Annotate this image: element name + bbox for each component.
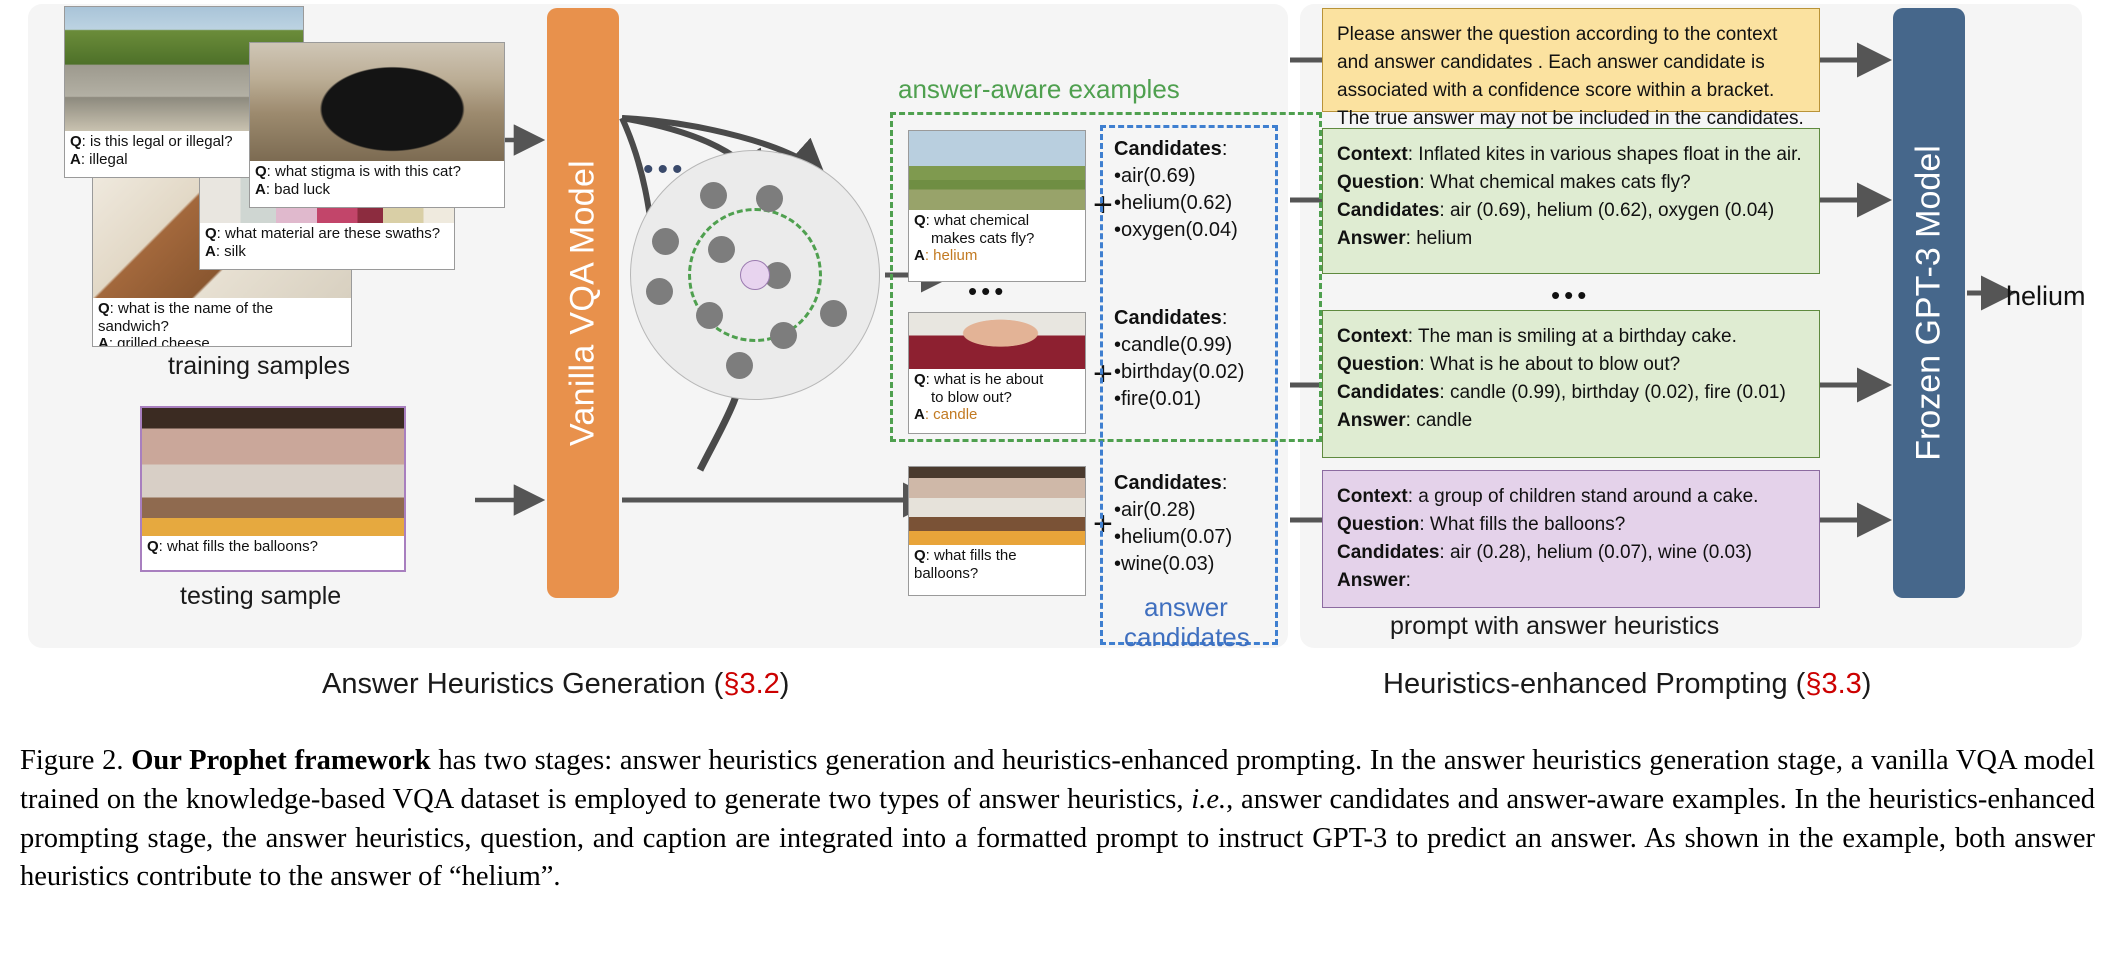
answer-aware-example-card-1: Q: what chemical makes cats fly? A: heli… (908, 130, 1086, 282)
right-stage-caption: Heuristics-enhanced Prompting (§3.3) (1383, 668, 1871, 701)
cluster-dot (726, 352, 753, 379)
photo-birthday-cake-kids (909, 467, 1085, 545)
photo-children-party (142, 408, 404, 536)
q-label: Q (70, 133, 82, 150)
context-text: : a group of children stand around a cak… (1408, 486, 1759, 507)
q-text-line1: : what chemical (926, 212, 1029, 229)
candidates-header: Candidates (1114, 138, 1222, 160)
question-text: : What fills the balloons? (1419, 514, 1625, 535)
a-text: : helium (925, 247, 978, 264)
figure-number: Figure 2. (20, 745, 124, 776)
candidates-label: Candidates (1337, 382, 1439, 403)
left-stage-caption: Answer Heuristics Generation (§3.2) (322, 668, 789, 701)
answer-text: : helium (1406, 228, 1473, 249)
a-label: A (205, 243, 216, 260)
question-label: Question (1337, 354, 1419, 375)
answer-text: : (1406, 570, 1411, 591)
prompt-instruction-box: Please answer the question according to … (1322, 8, 1820, 112)
photo-kites (909, 131, 1085, 210)
vanilla-vqa-model-block: Vanilla VQA Model (547, 8, 619, 598)
q-label: Q (914, 547, 926, 564)
context-label: Context (1337, 326, 1408, 347)
q-text-line1: : what fills the (926, 547, 1017, 564)
q-label: Q (147, 538, 159, 555)
prompt-test-box: Context: a group of children stand aroun… (1322, 470, 1820, 608)
candidate-item: •fire(0.01) (1114, 386, 1244, 413)
prompt-example-box-2: Context: The man is smiling at a birthda… (1322, 310, 1820, 458)
candidates-block-3: Candidates: •air(0.28) •helium(0.07) •wi… (1114, 470, 1232, 578)
answer-label: Answer (1337, 228, 1406, 249)
figure-diagram: Q: is this legal or illegal? A: illegal … (0, 0, 2110, 730)
left-stage-caption-text: Answer Heuristics Generation ( (322, 668, 723, 700)
caption-italic-ie: i.e. (1191, 784, 1226, 815)
frozen-gpt3-model-block: Frozen GPT-3 Model (1893, 8, 1965, 598)
section-ref-3-2: §3.2 (723, 668, 779, 700)
candidate-item: •air(0.28) (1114, 497, 1232, 524)
answer-aware-example-card-2: Q: what is he about to blow out? A: cand… (908, 312, 1086, 434)
prompt-ellipsis: ••• (1551, 282, 1590, 308)
photo-black-cat (250, 43, 504, 161)
prompt-caption-label: prompt with answer heuristics (1390, 612, 1719, 641)
candidates-colon: : (1222, 472, 1228, 494)
training-samples-label: training samples (168, 352, 350, 381)
test-example-qa: Q: what fills the balloons? (909, 545, 1085, 585)
a-text: : grilled cheese (109, 335, 210, 347)
testing-sample-card: Q: what fills the balloons? (140, 406, 406, 572)
cluster-dot (652, 228, 679, 255)
q-label: Q (98, 300, 110, 317)
q-label: Q (205, 225, 217, 242)
q-text: : is this legal or illegal? (82, 133, 233, 150)
question-label: Question (1337, 514, 1419, 535)
cluster-dot (700, 182, 727, 209)
cluster-dot (770, 322, 797, 349)
candidates-text: : air (0.69), helium (0.62), oxygen (0.0… (1439, 200, 1774, 221)
q-text: : what material are these swaths? (217, 225, 440, 242)
a-text: : silk (216, 243, 246, 260)
candidates-colon: : (1222, 138, 1228, 160)
context-label: Context (1337, 486, 1408, 507)
question-text: : What is he about to blow out? (1419, 354, 1680, 375)
q-text: : what fills the balloons? (159, 538, 318, 555)
cluster-dot (696, 302, 723, 329)
question-text: : What chemical makes cats fly? (1419, 172, 1690, 193)
training-sample-card-2: Q: what stigma is with this cat? A: bad … (249, 42, 505, 208)
candidate-item: •air(0.69) (1114, 163, 1238, 190)
figure-caption: Figure 2. Our Prophet framework has two … (20, 742, 2095, 897)
training-sample-qa-3: Q: what material are these swaths? A: si… (200, 223, 454, 263)
prompt-example-box-1: Context: Inflated kites in various shape… (1322, 128, 1820, 274)
candidate-item: •candle(0.99) (1114, 332, 1244, 359)
cluster-dot (646, 278, 673, 305)
candidates-text: : air (0.28), helium (0.07), wine (0.03) (1439, 542, 1752, 563)
q-text-line2: makes cats fly? (931, 230, 1034, 247)
frozen-gpt3-model-label: Frozen GPT-3 Model (1910, 145, 1949, 461)
training-sample-qa-4: Q: what is the name of the sandwich? A: … (93, 298, 351, 347)
answer-candidates-title-line1: answer (1144, 592, 1228, 623)
final-answer-text: helium (2006, 281, 2086, 312)
close-paren: ) (1862, 668, 1872, 700)
testing-sample-qa: Q: what fills the balloons? (142, 536, 404, 559)
a-text: : candle (925, 406, 978, 423)
candidates-label: Candidates (1337, 200, 1439, 221)
q-label: Q (914, 371, 926, 388)
candidate-item: •wine(0.03) (1114, 551, 1232, 578)
prompt-instruction-text: Please answer the question according to … (1337, 24, 1804, 129)
a-text: : illegal (81, 151, 128, 168)
answer-aware-ellipsis: ••• (968, 278, 1007, 304)
a-label: A (914, 406, 925, 423)
caption-bold-lead: Our Prophet framework (131, 745, 430, 776)
a-label: A (70, 151, 81, 168)
candidates-header: Candidates (1114, 472, 1222, 494)
cluster-dot (756, 185, 783, 212)
testing-sample-label: testing sample (180, 582, 341, 611)
candidates-block-2: Candidates: •candle(0.99) •birthday(0.02… (1114, 305, 1244, 413)
a-text: : bad luck (266, 181, 330, 198)
answer-aware-examples-title: answer-aware examples (898, 74, 1180, 105)
candidate-item: •helium(0.07) (1114, 524, 1232, 551)
answer-label: Answer (1337, 570, 1406, 591)
candidates-label: Candidates (1337, 542, 1439, 563)
candidate-item: •oxygen(0.04) (1114, 217, 1238, 244)
context-text: : The man is smiling at a birthday cake. (1408, 326, 1737, 347)
a-label: A (914, 247, 925, 264)
cluster-dot (708, 236, 735, 263)
q-label: Q (914, 212, 926, 229)
answer-label: Answer (1337, 410, 1406, 431)
cluster-query-dot (740, 260, 770, 290)
q-text: : what stigma is with this cat? (267, 163, 461, 180)
q-text-line2: balloons? (914, 565, 978, 582)
answer-aware-example-qa-2: Q: what is he about to blow out? A: cand… (909, 369, 1085, 427)
candidate-item: •helium(0.62) (1114, 190, 1238, 217)
feature-cluster (630, 150, 880, 400)
answer-candidates-title-line2: candidates (1124, 622, 1250, 653)
vanilla-vqa-model-label: Vanilla VQA Model (564, 160, 603, 446)
answer-text: : candle (1406, 410, 1473, 431)
cluster-dot (820, 300, 847, 327)
q-label: Q (255, 163, 267, 180)
a-label: A (255, 181, 266, 198)
test-example-card: Q: what fills the balloons? (908, 466, 1086, 596)
training-sample-qa-2: Q: what stigma is with this cat? A: bad … (250, 161, 504, 201)
answer-aware-example-qa-1: Q: what chemical makes cats fly? A: heli… (909, 210, 1085, 268)
section-ref-3-3: §3.3 (1805, 668, 1861, 700)
context-text: : Inflated kites in various shapes float… (1408, 144, 1802, 165)
close-paren: ) (780, 668, 790, 700)
candidates-header: Candidates (1114, 307, 1222, 329)
q-text-line1: : what is he about (926, 371, 1044, 388)
a-label: A (98, 335, 109, 347)
question-label: Question (1337, 172, 1419, 193)
q-text-line2: to blow out? (931, 389, 1012, 406)
right-stage-caption-text: Heuristics-enhanced Prompting ( (1383, 668, 1805, 700)
candidates-text: : candle (0.99), birthday (0.02), fire (… (1439, 382, 1785, 403)
photo-man-birthday (909, 313, 1085, 369)
context-label: Context (1337, 144, 1408, 165)
q-text: : what is the name of the sandwich? (98, 300, 273, 335)
candidates-block-1: Candidates: •air(0.69) •helium(0.62) •ox… (1114, 136, 1238, 244)
candidates-colon: : (1222, 307, 1228, 329)
candidate-item: •birthday(0.02) (1114, 359, 1244, 386)
